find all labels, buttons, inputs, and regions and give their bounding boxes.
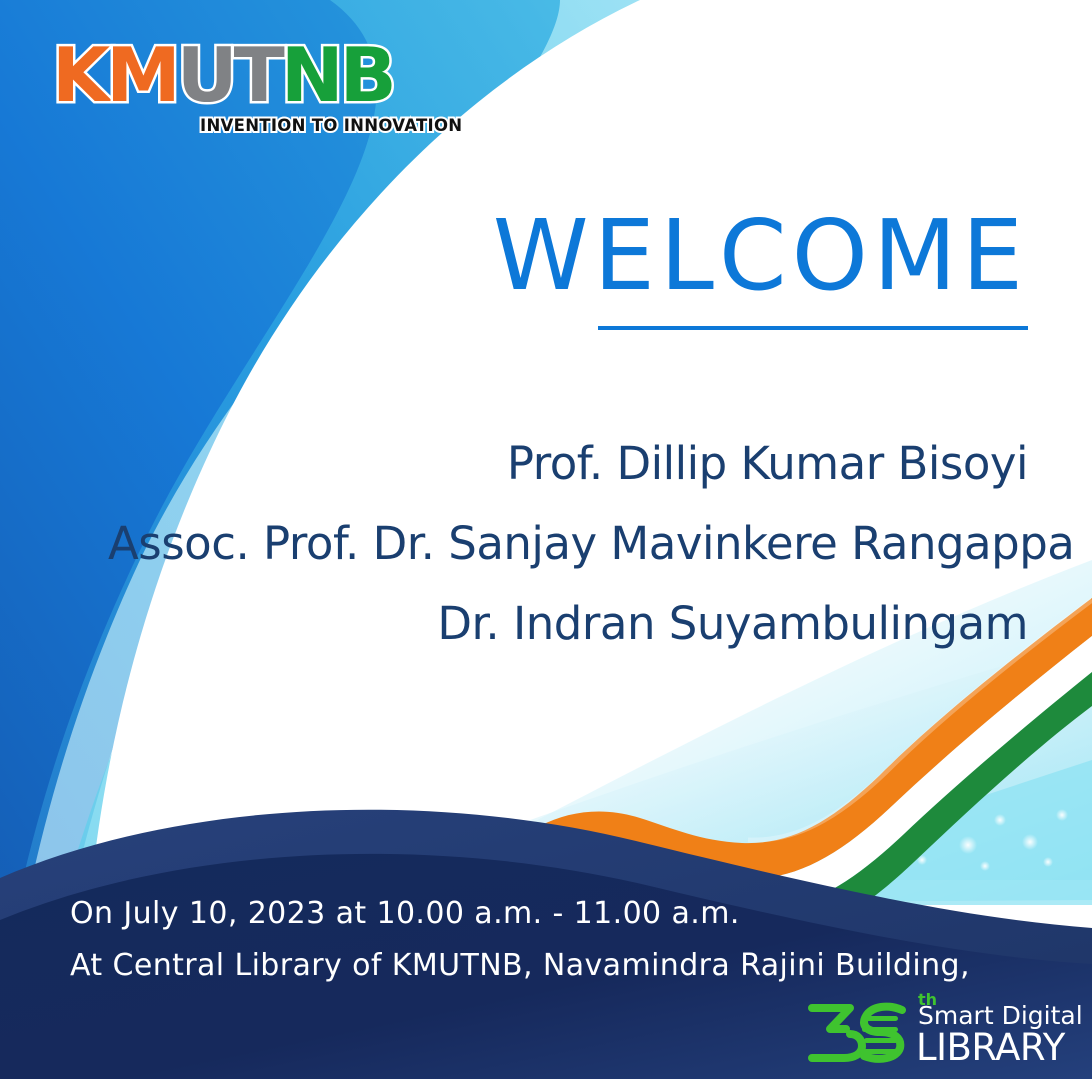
library-35-mark-icon: [806, 996, 914, 1064]
kmutnb-wordmark: KMUTNB: [52, 38, 393, 113]
library-word: LIBRARY: [916, 1028, 1065, 1068]
speaker-name: Dr. Indran Suyambulingam: [108, 584, 1028, 664]
logo-letters-nb: NB: [281, 31, 393, 119]
kmutnb-logo: KMUTNB INVENTION TO INNOVATION: [52, 38, 422, 138]
welcome-poster: KMUTNB INVENTION TO INNOVATION WELCOME P…: [0, 0, 1092, 1079]
speaker-name: Assoc. Prof. Dr. Sanjay Mavinkere Rangap…: [108, 504, 1028, 584]
title-underline: [598, 326, 1028, 330]
speaker-name: Prof. Dillip Kumar Bisoyi: [108, 424, 1028, 504]
logo-letter-m: M: [106, 31, 177, 119]
event-details: On July 10, 2023 at 10.00 a.m. - 11.00 a…: [70, 888, 970, 992]
speaker-list: Prof. Dillip Kumar Bisoyi Assoc. Prof. D…: [108, 424, 1028, 664]
logo-tagline: INVENTION TO INNOVATION: [200, 116, 462, 135]
logo-letter-k: K: [52, 31, 106, 119]
event-location: At Central Library of KMUTNB, Navamindra…: [70, 940, 970, 992]
page-title: WELCOME: [493, 206, 1028, 306]
smart-digital-library-logo: th Smart Digital LIBRARY: [806, 992, 1068, 1072]
event-datetime: On July 10, 2023 at 10.00 a.m. - 11.00 a…: [70, 888, 970, 940]
logo-letters-ut: UT: [177, 31, 281, 119]
welcome-heading-block: WELCOME: [493, 206, 1028, 330]
